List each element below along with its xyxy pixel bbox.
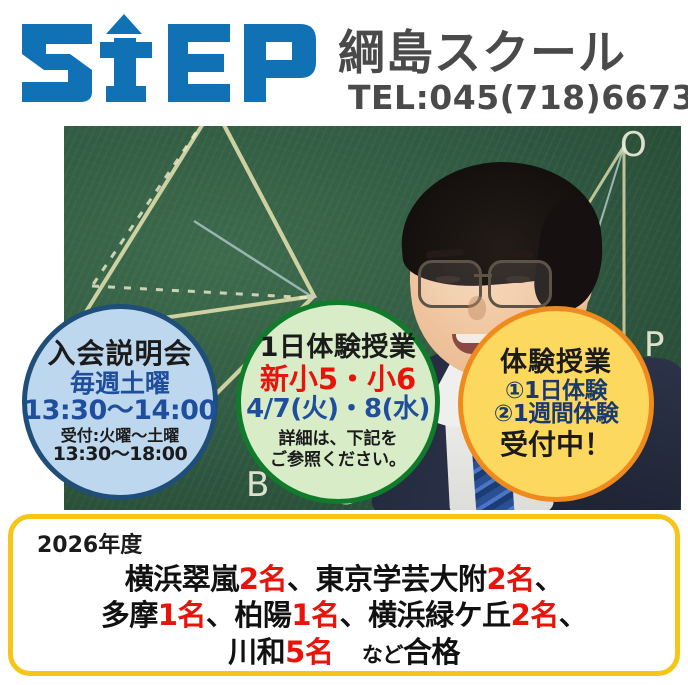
result-school: 、 [559,598,588,632]
accepting-title: 体験授業 [500,349,612,377]
result-school: など [362,643,403,667]
trial-note-line2: ご参照ください。 [270,450,406,470]
results-lines: 横浜翠嵐2名、東京学芸大附2名、多摩1名、柏陽1名、横浜緑ケ丘2名、川和5名 な… [23,561,665,670]
result-school: 、東京学芸大附 [287,562,487,596]
trial-dates: 4/7(火)・8(水) [246,396,430,423]
result-school: 横浜翠嵐 [125,562,239,596]
result-count: 2名 [511,598,559,632]
briefing-time: 13:30〜14:00 [23,397,216,425]
school-name: 綱島スクール [338,14,626,83]
result-count: 2名 [487,562,535,596]
telephone-number: TEL:045(718)6673 [348,78,688,117]
step-logo [18,12,318,104]
trial-target-grades: 新小5・小6 [260,364,416,394]
results-line: 川和5名 など合格 [23,634,665,670]
results-line: 多摩1名、柏陽1名、横浜緑ケ丘2名、 [23,597,665,633]
result-count: 1名 [291,598,339,632]
briefing-day: 毎週土曜 [70,371,170,397]
result-school: 、横浜緑ケ丘 [340,598,511,632]
trial-title: 1日体験授業 [260,334,417,362]
accepting-status: 受付中！ [500,430,612,459]
eyeglasses-right-lens [488,260,552,308]
briefing-reception-hours: 13:30〜18:00 [53,445,187,465]
result-school: 合格 [403,635,460,669]
results-year: 2026年度 [37,527,665,559]
result-school: 多摩 [101,598,158,632]
page-header: 綱島スクール TEL:045(718)6673 [0,0,688,124]
exam-results-box: 2026年度 横浜翠嵐2名、東京学芸大附2名、多摩1名、柏陽1名、横浜緑ケ丘2名… [8,514,680,676]
info-circle-trial-accepting[interactable]: 体験授業 ①1日体験 ②1週間体験 受付中！ [458,306,654,502]
results-line: 横浜翠嵐2名、東京学芸大附2名、 [23,561,665,597]
result-count: 5名 [285,635,333,669]
accepting-option-2: ②1週間体験 [494,403,618,427]
result-count: 2名 [239,562,287,596]
info-circle-one-day-trial[interactable]: 1日体験授業 新小5・小6 4/7(火)・8(水) 詳細は、下記を ご参照くださ… [236,300,440,504]
result-school: 、柏陽 [206,598,292,632]
result-school [333,635,362,669]
info-circle-enrollment-briefing[interactable]: 入会説明会 毎週土曜 13:30〜14:00 受付:火曜〜土曜 13:30〜18… [22,304,218,500]
trial-note-line1: 詳細は、下記を [279,429,398,449]
result-count: 1名 [158,598,206,632]
result-school: 川和 [228,635,285,669]
accepting-option-1: ①1日体験 [505,380,607,404]
briefing-title: 入会説明会 [47,339,192,368]
result-school: 、 [535,562,564,596]
